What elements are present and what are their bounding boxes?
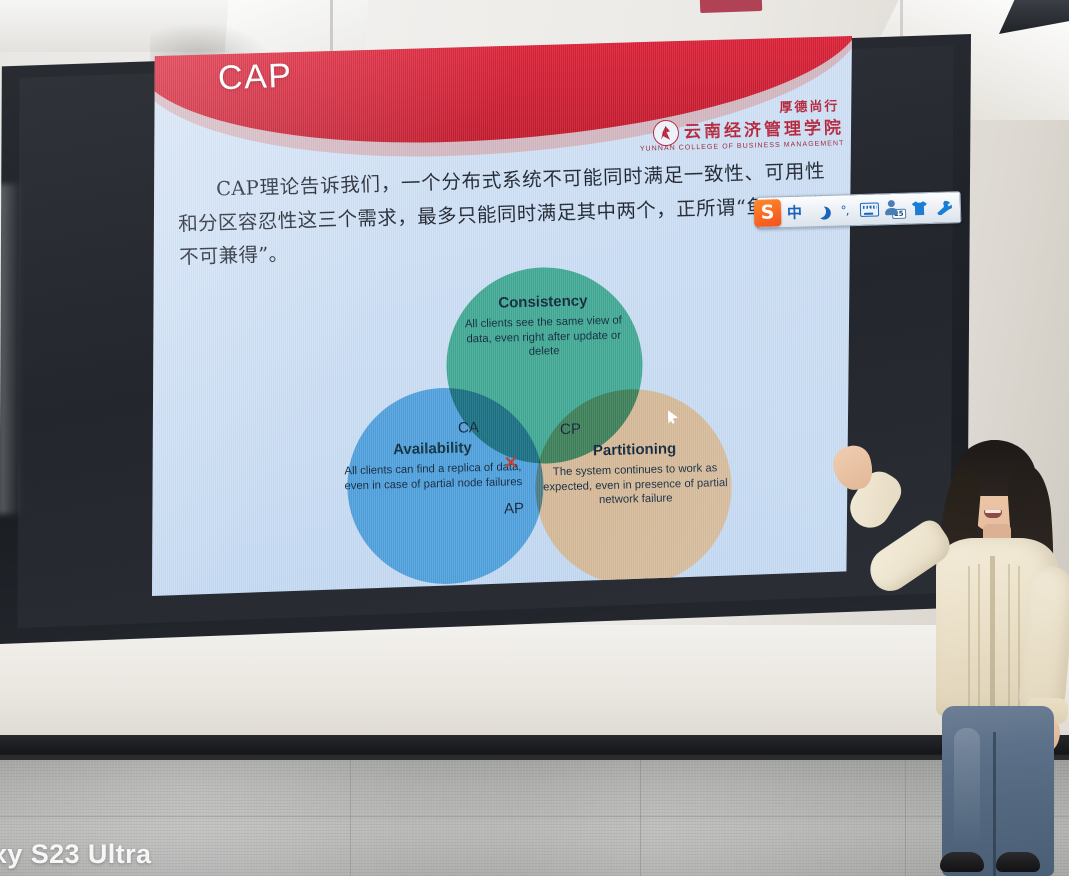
- bezel-glare: [0, 184, 20, 515]
- presenter: [836, 416, 1069, 876]
- cap-venn-diagram: Consistency All clients see the same vie…: [334, 264, 714, 593]
- tile-seam: [350, 760, 351, 876]
- school-name-cn: 云南经济管理学院: [684, 120, 844, 141]
- presenter-jeans-highlight: [954, 728, 980, 848]
- presenter-shoe-left: [940, 852, 984, 872]
- screenshot-root: CAP 厚德尚行 云南经济管理学院 YUNNAN COLLEGE OF BUSI…: [0, 0, 1069, 876]
- venn-circle-partitioning: [533, 387, 734, 588]
- soft-keyboard-icon[interactable]: [858, 196, 882, 223]
- user-account-icon[interactable]: 15: [883, 196, 907, 223]
- skin-chooser-icon[interactable]: [908, 195, 932, 222]
- school-logo: 厚德尚行 云南经济管理学院 YUNNAN COLLEGE OF BUSINESS…: [631, 99, 845, 163]
- ceiling-red-sign: [700, 0, 763, 13]
- presenter-teeth: [985, 510, 1001, 513]
- camera-watermark: xy S23 Ultra: [0, 839, 151, 870]
- school-emblem-icon: [653, 120, 680, 147]
- language-mode-icon[interactable]: 中: [783, 198, 807, 225]
- presenter-blouse-pleat: [968, 566, 970, 708]
- slide-title: CAP: [217, 57, 293, 99]
- user-level-badge: 15: [892, 209, 906, 219]
- night-mode-icon[interactable]: [808, 198, 832, 225]
- sogou-ime-toolbar[interactable]: S 中 °, 15: [757, 191, 962, 229]
- slide-body-text: CAP理论告诉我们，一个分布式系统不可能同时满足一致性、可用性和分区容忍性这三个…: [177, 154, 828, 274]
- presenter-blouse-pleat: [978, 564, 980, 710]
- punctuation-width-icon[interactable]: °,: [833, 197, 857, 224]
- presenter-blouse-pleat: [1008, 564, 1010, 710]
- presentation-slide[interactable]: CAP 厚德尚行 云南经济管理学院 YUNNAN COLLEGE OF BUSI…: [152, 36, 852, 596]
- sogou-logo-icon[interactable]: S: [754, 199, 782, 227]
- settings-wrench-icon[interactable]: [933, 194, 957, 221]
- school-motto: 厚德尚行: [779, 95, 840, 116]
- tile-seam: [640, 760, 641, 876]
- presenter-blouse-placket: [990, 556, 995, 714]
- presenter-shoe-right: [996, 852, 1040, 872]
